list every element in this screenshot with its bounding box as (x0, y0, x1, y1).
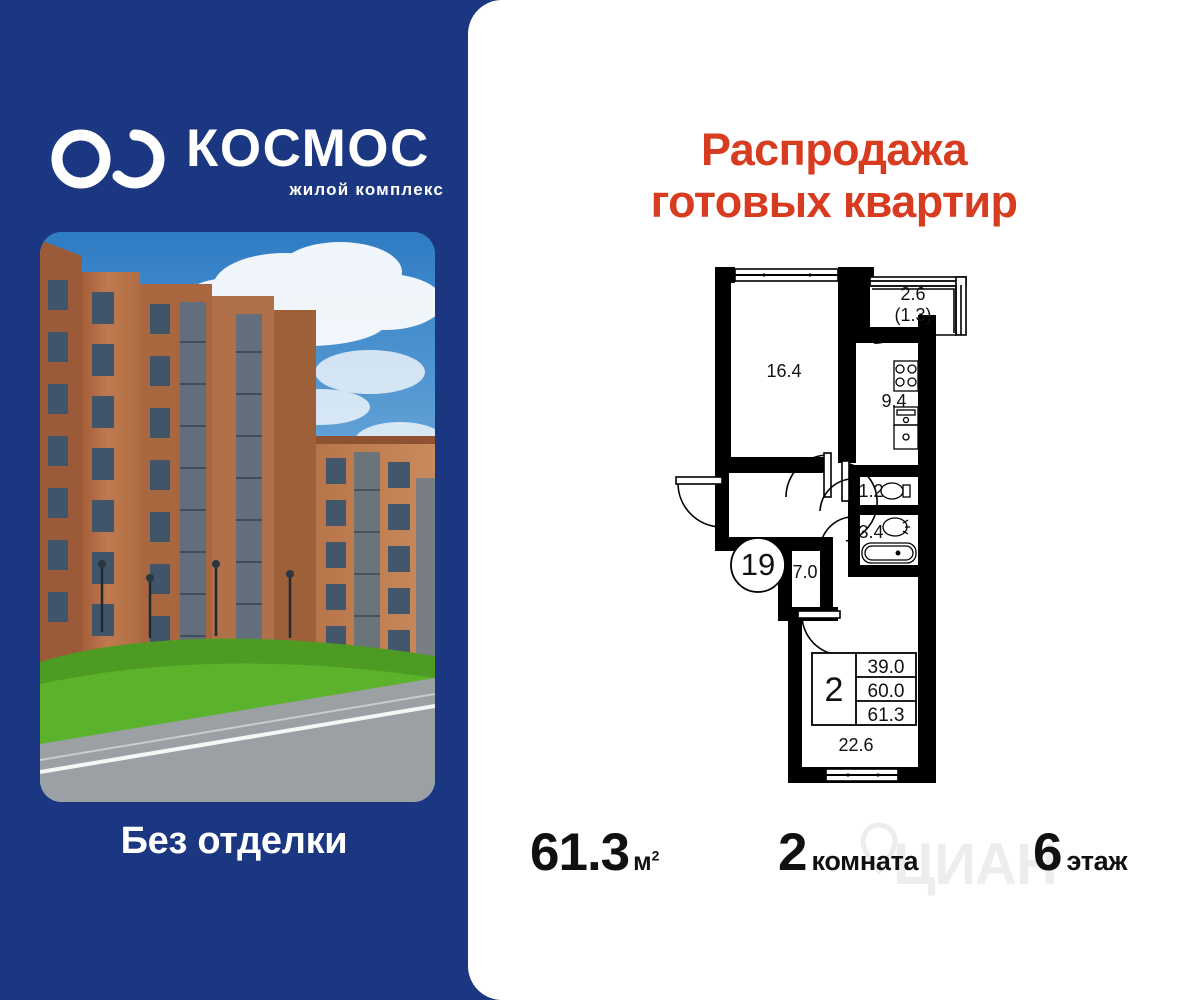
summary-table: 2 39.0 60.0 61.3 (812, 653, 916, 726)
summary-total-area: 61.3 (868, 705, 905, 726)
stat-area-unit: м2 (633, 848, 659, 876)
stat-rooms-label: комната (811, 846, 918, 876)
finish-caption: Без отделки (0, 820, 468, 863)
headline-line-1: Распродажа (701, 124, 967, 175)
stat-rooms: 2комната (778, 822, 918, 883)
summary-living-area: 39.0 (868, 657, 905, 678)
stat-area: 61.3м2 (530, 822, 659, 883)
area-balcony: 2.6 (900, 284, 925, 304)
area-second-room: 22.6 (838, 735, 873, 755)
poster-root: КОСМОС жилой комплекс (0, 0, 1200, 1000)
apartment-number-badge: 19 (731, 538, 785, 592)
infinity-loops-icon (50, 128, 166, 190)
building-photo (40, 232, 435, 802)
headline-line-2: готовых квартир (468, 176, 1200, 228)
brand-text: КОСМОС жилой комплекс (186, 120, 446, 200)
page-title: Распродажа готовых квартир (468, 124, 1200, 228)
brand-logo[interactable]: КОСМОС жилой комплекс (50, 120, 445, 220)
apartment-stats: 61.3м2 2комната 6этаж (468, 812, 1200, 902)
stat-floor: 6этаж (1033, 822, 1127, 883)
area-living-room: 16.4 (766, 361, 801, 381)
stat-rooms-value: 2 (778, 823, 806, 882)
area-kitchen: 9.4 (881, 391, 906, 411)
stat-floor-value: 6 (1033, 823, 1061, 882)
summary-area-without-balcony: 60.0 (868, 681, 905, 702)
stat-area-value: 61.3 (530, 823, 629, 882)
left-panel: КОСМОС жилой комплекс (0, 0, 468, 1000)
area-toilet: 1.2 (858, 481, 883, 501)
brand-title: КОСМОС (186, 120, 446, 178)
stat-floor-label: этаж (1066, 846, 1127, 876)
area-balcony-reduced: (1.3) (894, 305, 931, 325)
floorplan: 16.4 9.4 2.6 (1.3) 7.0 1.2 3.4 22.6 19 (660, 255, 1020, 795)
brand-subtitle: жилой комплекс (186, 180, 446, 200)
apartment-number: 19 (741, 547, 775, 582)
area-bathroom: 3.4 (858, 522, 883, 542)
summary-rooms-count: 2 (825, 671, 844, 709)
area-hallway: 7.0 (792, 562, 817, 582)
